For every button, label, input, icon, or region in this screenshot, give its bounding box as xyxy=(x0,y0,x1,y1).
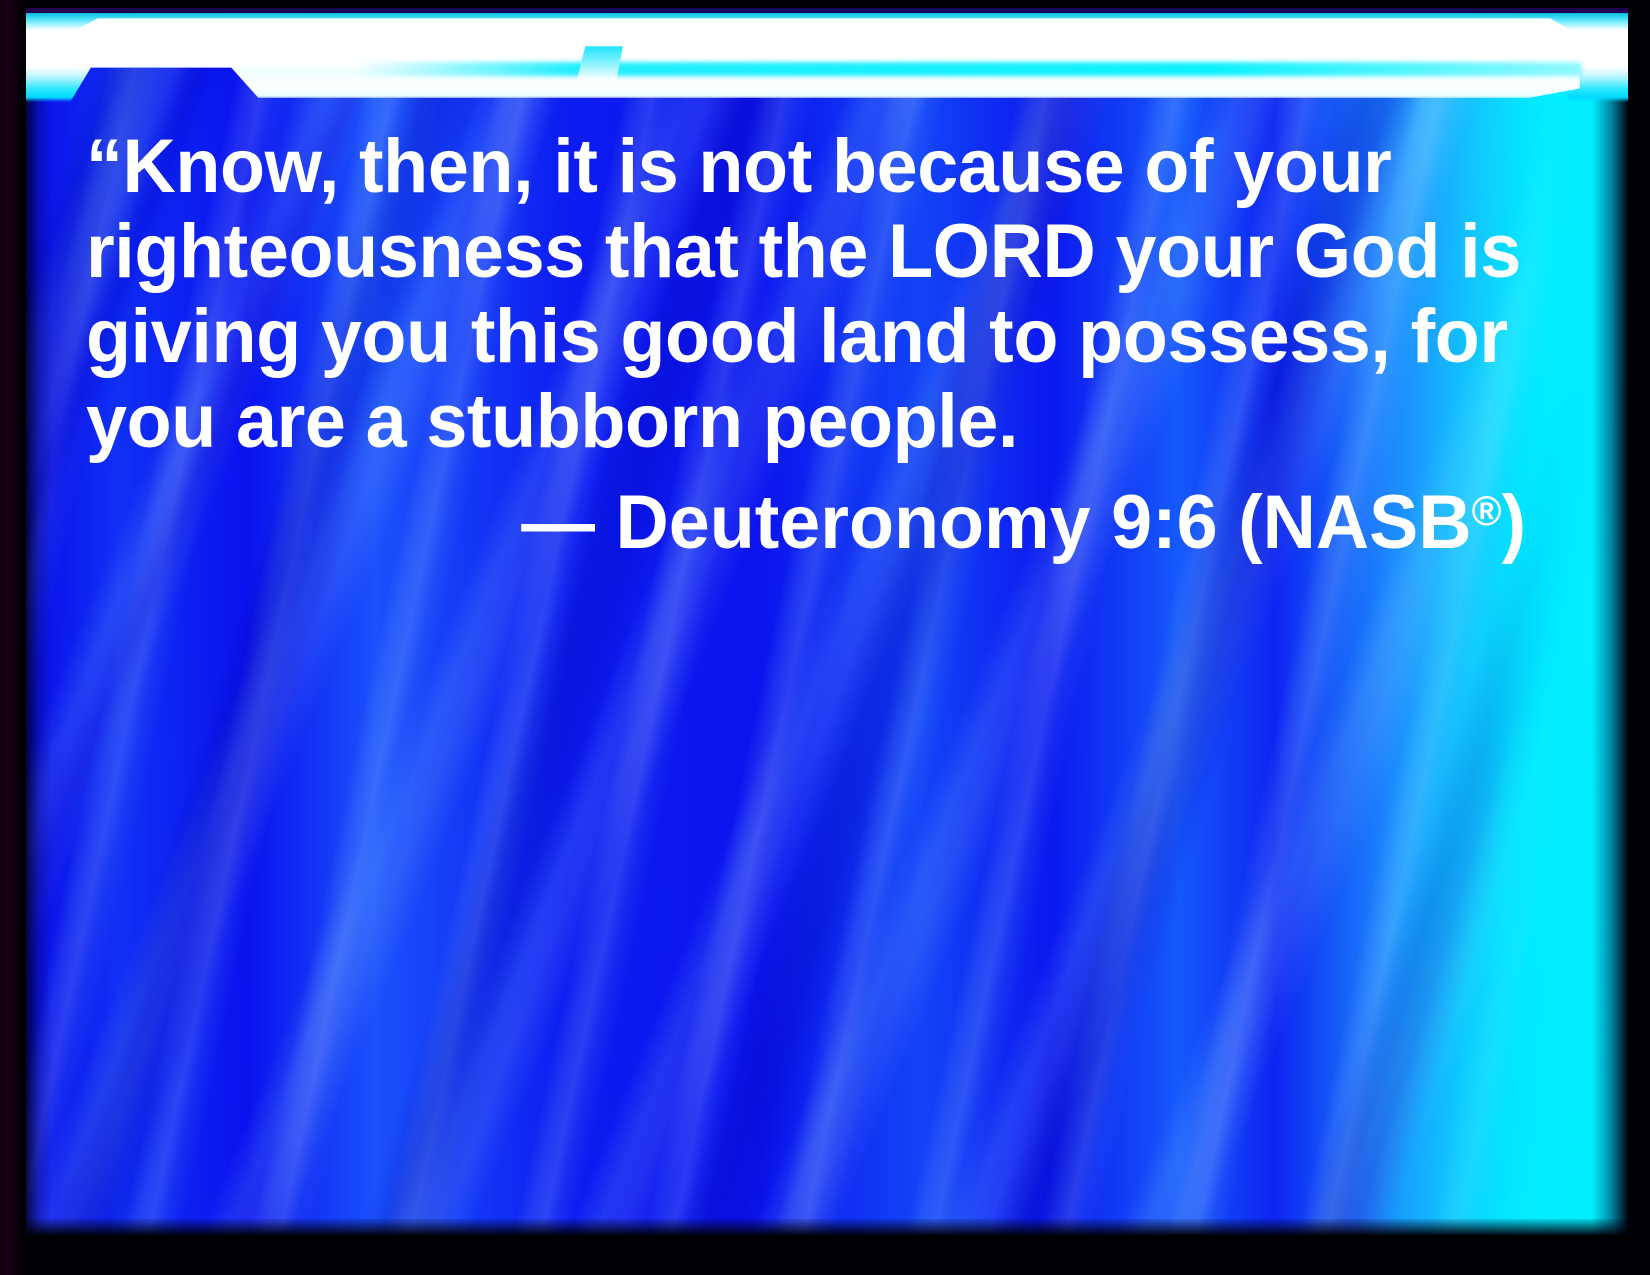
registered-trademark-icon: ® xyxy=(1472,487,1502,534)
background-edge-shadow-left xyxy=(22,8,52,1235)
background-edge-shadow-right xyxy=(1592,8,1628,1235)
attribution-reference: 9:6 xyxy=(1111,480,1218,565)
verse-line-4: you are a stubborn people. xyxy=(86,379,1483,464)
top-light-banner xyxy=(22,8,1628,104)
verse-line-3: giving you this good land to possess, fo… xyxy=(86,294,1483,379)
verse-line-2: righteousness that the LORD your God is xyxy=(86,209,1483,294)
attribution-translation-open: (NASB xyxy=(1238,480,1471,565)
background-edge-shadow-bottom xyxy=(22,1219,1628,1235)
attribution-translation-close: ) xyxy=(1501,480,1526,565)
top-banner-cyan-streak xyxy=(352,62,1582,76)
verse-text-block: “Know, then, it is not because of your r… xyxy=(86,124,1526,565)
attribution-dash: — xyxy=(521,480,595,565)
verse-attribution: — Deuteronomy 9:6 (NASB®) xyxy=(129,464,1526,565)
top-banner-dark-rule xyxy=(22,8,1628,13)
verse-slide: “Know, then, it is not because of your r… xyxy=(0,0,1650,1275)
verse-line-1: “Know, then, it is not because of your xyxy=(86,124,1483,209)
attribution-book: Deuteronomy xyxy=(615,480,1090,565)
top-banner-white-core xyxy=(68,18,1580,98)
